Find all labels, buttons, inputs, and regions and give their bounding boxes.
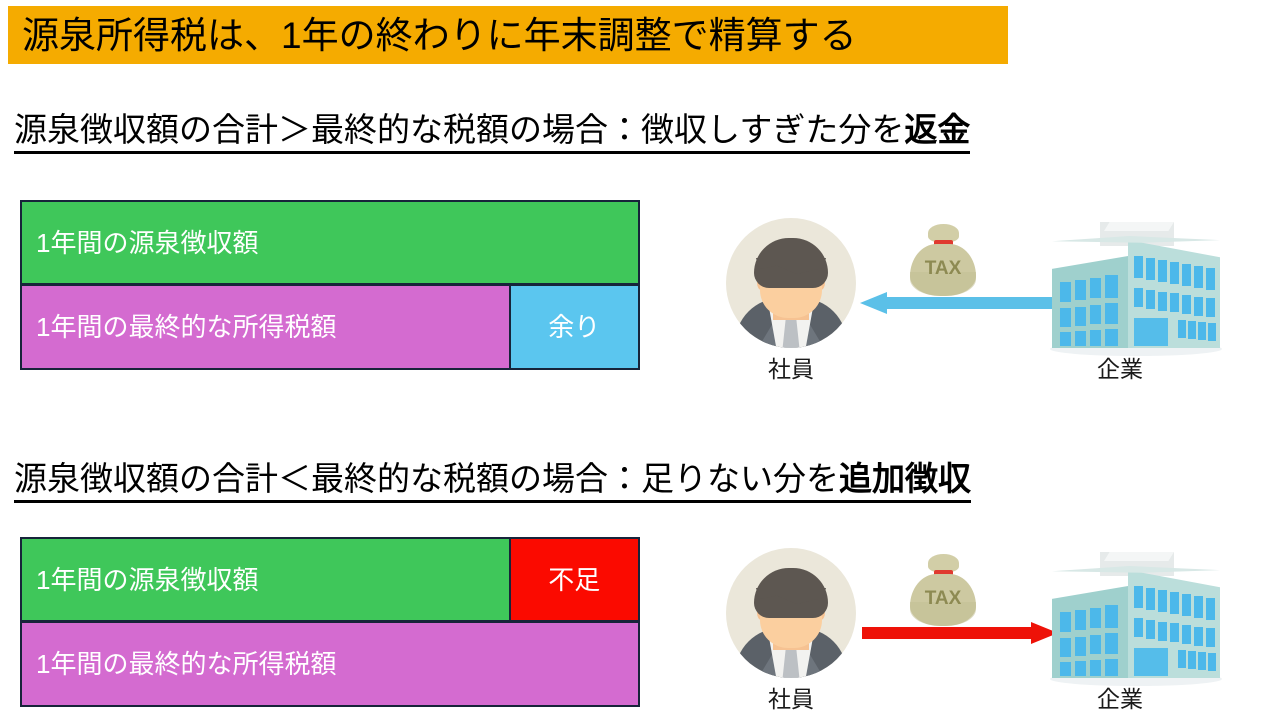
bar-segment-shortfall: 不足 (509, 539, 638, 620)
bar-segment-withheld-2-label: 1年間の源泉徴収額 (22, 567, 258, 593)
bar-row-withheld-total: 1年間の源泉徴収額 (20, 200, 640, 285)
money-bag-label-2: TAX (908, 588, 978, 610)
employee-label-2: 社員 (726, 688, 856, 711)
money-bag-label: TAX (908, 258, 978, 280)
bar-segment-final-tax-2-label: 1年間の最終的な所得税額 (22, 651, 336, 677)
section-heading-refund-text: 源泉徴収額の合計＞最終的な税額の場合：徴収しすぎた分を (14, 111, 904, 148)
building-rooftop-top-shape-2 (1104, 552, 1174, 561)
bar-segment-final-tax: 1年間の最終的な所得税額 (22, 286, 509, 368)
section-heading-additional-collection-text: 源泉徴収額の合計＜最終的な税額の場合：足りない分を (14, 460, 839, 497)
section-heading-refund: 源泉徴収額の合計＞最終的な税額の場合：徴収しすぎた分を返金 (14, 113, 970, 154)
arrow-left-shaft-shape (886, 297, 1060, 309)
bar-segment-withheld: 1年間の源泉徴収額 (22, 202, 638, 283)
section-heading-refund-emphasis: 返金 (904, 111, 970, 148)
title-banner: 源泉所得税は、1年の終わりに年末調整で精算する (8, 6, 1008, 64)
bar-segment-withheld-label: 1年間の源泉徴収額 (22, 230, 258, 256)
bar-segment-final-tax-2: 1年間の最終的な所得税額 (22, 623, 638, 705)
bar-segment-surplus: 余り (509, 286, 638, 368)
office-building-icon-2 (1042, 552, 1228, 688)
bar-row-final-tax-2: 1年間の最終的な所得税額 (20, 622, 640, 707)
building-rooftop-top-shape (1104, 222, 1174, 231)
page-title: 源泉所得税は、1年の終わりに年末調整で精算する (22, 17, 857, 54)
building-right-facade-shape-2 (1128, 570, 1220, 678)
slide-canvas: 源泉所得税は、1年の終わりに年末調整で精算する 源泉徴収額の合計＞最終的な税額の… (0, 0, 1280, 720)
arrow-right-icon (862, 622, 1058, 644)
bar-chart-refund: 1年間の源泉徴収額 1年間の最終的な所得税額 余り (20, 200, 640, 370)
money-bag-tax-icon-2: TAX (908, 552, 978, 626)
arrow-right-shaft-shape (862, 627, 1032, 639)
bar-chart-additional-collection: 1年間の源泉徴収額 不足 1年間の最終的な所得税額 (20, 537, 640, 707)
section-heading-additional-collection: 源泉徴収額の合計＜最終的な税額の場合：足りない分を追加徴収 (14, 462, 971, 503)
employee-avatar-icon (726, 218, 856, 348)
illustration-refund-flow: 社員 TAX (712, 218, 1232, 398)
building-left-facade-shape-2 (1052, 586, 1128, 678)
company-label-2: 企業 (1050, 688, 1190, 711)
bar-row-withheld-total-2: 1年間の源泉徴収額 不足 (20, 537, 640, 622)
arrow-left-icon (860, 292, 1060, 314)
section-heading-additional-collection-emphasis: 追加徴収 (839, 460, 971, 497)
bar-segment-final-tax-label: 1年間の最終的な所得税額 (22, 314, 336, 340)
building-right-facade-shape (1128, 240, 1220, 348)
office-building-icon (1042, 222, 1228, 358)
employee-avatar-icon-2 (726, 548, 856, 678)
bar-row-final-tax: 1年間の最終的な所得税額 余り (20, 285, 640, 370)
employee-label: 社員 (726, 358, 856, 381)
building-left-facade-shape (1052, 256, 1128, 348)
arrow-left-head-shape (860, 292, 887, 314)
illustration-collection-flow: 社員 TAX (712, 548, 1232, 720)
bar-segment-withheld-2: 1年間の源泉徴収額 (22, 539, 509, 620)
money-bag-tax-icon: TAX (908, 222, 978, 296)
company-label: 企業 (1050, 358, 1190, 381)
bar-segment-surplus-label: 余り (548, 314, 600, 340)
bar-segment-shortfall-label: 不足 (548, 567, 600, 593)
